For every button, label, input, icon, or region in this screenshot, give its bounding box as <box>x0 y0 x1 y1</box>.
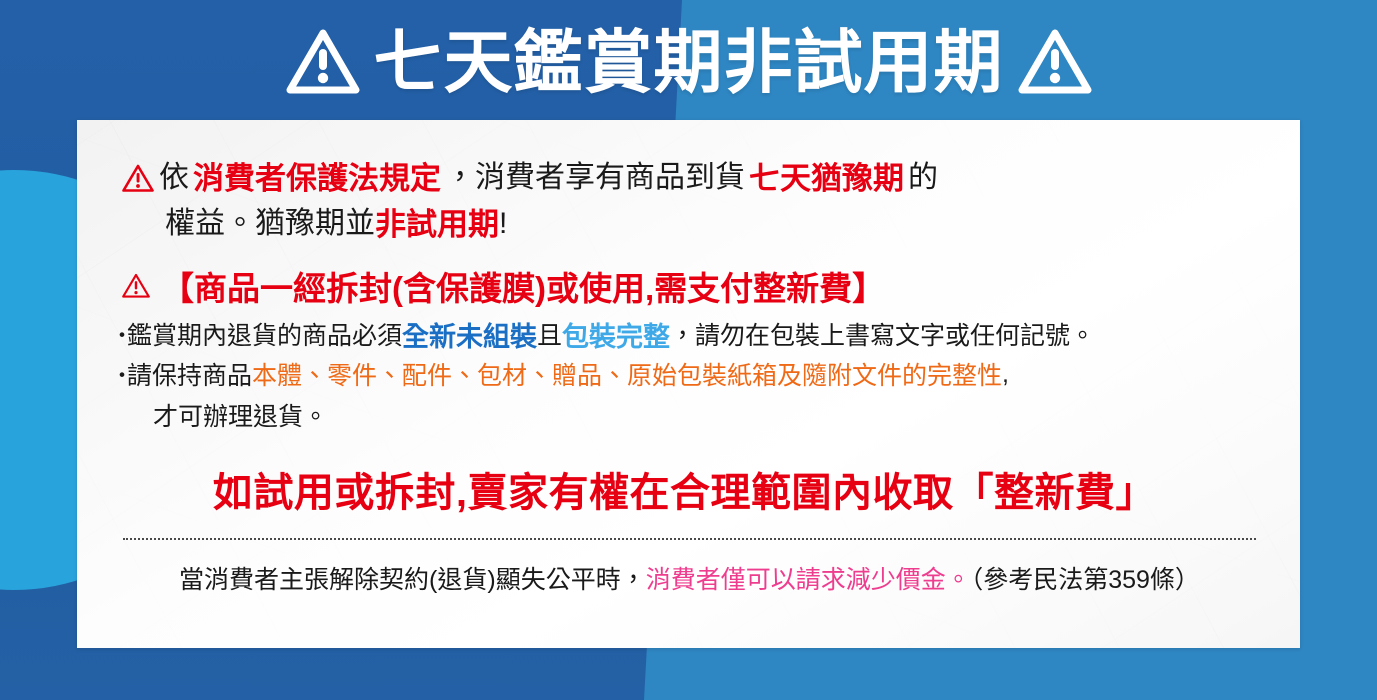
p1-seg5: 的 <box>908 163 938 193</box>
warning-triangle-icon-red-1 <box>121 163 155 194</box>
policy-card: 依消費者保護法規定，消費者享有商品到貨七天猶豫期的 權益。猶豫期並非試用期! 【… <box>77 120 1300 648</box>
p1-line2-seg1: 權益。猶豫期並 <box>165 209 375 239</box>
p1-line2-highlight: 非試用期 <box>375 209 499 240</box>
bullet1-highlight-brandnew: 全新未組裝 <box>402 315 537 354</box>
bullet2-continuation-text: 才可辦理退貨。 <box>153 397 328 433</box>
bullet1-seg1: 鑑賞期內退貨的商品必須 <box>127 316 402 352</box>
p1-seg4-highlight: 七天猶豫期 <box>749 163 904 194</box>
bullet-marker-1: ・ <box>111 318 127 350</box>
p1-seg1: 依 <box>159 163 189 193</box>
bullet-item-1: ・鑑賞期內退貨的商品必須全新未組裝且包裝完整，請勿在包裝上書寫文字或任何記號。 <box>111 314 1280 354</box>
warning-triangle-icon-red-2 <box>121 272 151 300</box>
page-title: 七天鑑賞期非試用期 <box>374 28 1004 97</box>
consumer-protection-paragraph: 依消費者保護法規定，消費者享有商品到貨七天猶豫期的 權益。猶豫期並非試用期! <box>121 156 1280 248</box>
p1-line2-seg3: ! <box>499 209 507 239</box>
legal-footnote: 當消費者主張解除契約(退貨)顯失公平時，消費者僅可以請求減少價金。（參考民法第3… <box>99 560 1280 596</box>
footer-highlight: 消費者僅可以請求減少價金。 <box>646 566 971 594</box>
bullet-item-2-continuation: 才可辦理退貨。 <box>111 394 1280 436</box>
emphasis-statement: 如試用或拆封,賣家有權在合理範圍內收取「整新費」 <box>99 460 1280 518</box>
bullet1-highlight-packaging: 包裝完整 <box>562 315 670 354</box>
bullet2-highlight-parts: 本體、零件、配件、包材、贈品、原始包裝紙箱及隨附文件的完整性 <box>252 356 1002 392</box>
p1-seg3: ，消費者享有商品到貨 <box>445 163 745 193</box>
dotted-divider <box>123 538 1256 540</box>
p1-seg2-highlight: 消費者保護法規定 <box>193 163 441 194</box>
footer-seg1: 當消費者主張解除契約(退貨)顯失公平時， <box>179 566 646 594</box>
refurbish-fee-heading-text: 【商品一經拆封(含保護膜)或使用,需支付整新費】 <box>161 262 885 310</box>
bullet2-seg3: , <box>1002 360 1009 389</box>
promo-banner: 七天鑑賞期非試用期 <box>0 0 1377 700</box>
warning-triangle-icon-right <box>1018 28 1092 96</box>
bullet2-seg1: 請保持商品 <box>127 356 252 392</box>
footer-seg3: （參考民法第359條） <box>971 566 1200 594</box>
bullet-item-2: ・請保持商品本體、零件、配件、包材、贈品、原始包裝紙箱及隨附文件的完整性, <box>111 354 1280 394</box>
refurbish-fee-heading: 【商品一經拆封(含保護膜)或使用,需支付整新費】 <box>121 264 1280 308</box>
bullet-marker-2: ・ <box>111 358 127 390</box>
banner-title-row: 七天鑑賞期非試用期 <box>0 14 1377 110</box>
bullet1-seg3: 且 <box>537 316 562 352</box>
warning-triangle-icon-left <box>286 28 360 96</box>
bullet1-seg5: ，請勿在包裝上書寫文字或任何記號。 <box>670 316 1095 352</box>
